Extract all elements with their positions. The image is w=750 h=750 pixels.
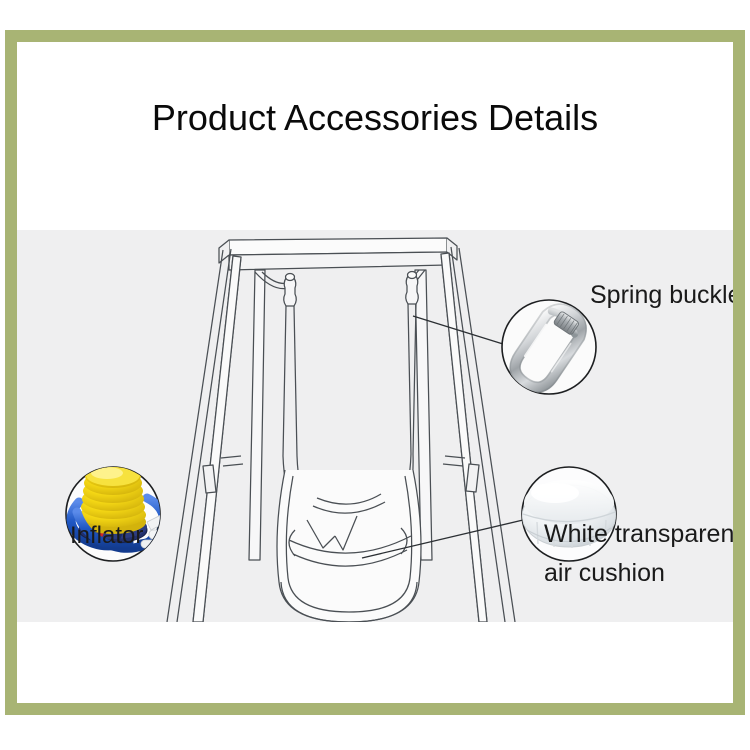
spring-buckle-callout-circle	[502, 300, 596, 394]
spring-buckle-label: Spring buckle	[590, 281, 733, 310]
illustration-panel: Spring buckle Inflator White transparent…	[17, 230, 733, 622]
inflator-label: Inflator	[70, 522, 143, 550]
page-title: Product Accessories Details	[17, 97, 733, 139]
swing-frame-drawing	[167, 238, 515, 622]
product-detail-image: Product Accessories Details	[0, 0, 750, 750]
green-border-frame: Product Accessories Details	[5, 30, 745, 715]
frame-inner-content: Product Accessories Details	[17, 42, 733, 703]
air-cushion-label: White transparent air cushion	[544, 515, 733, 593]
air-cushion-label-line2: air cushion	[544, 554, 733, 593]
air-cushion-label-line1: White transparent	[544, 520, 733, 548]
